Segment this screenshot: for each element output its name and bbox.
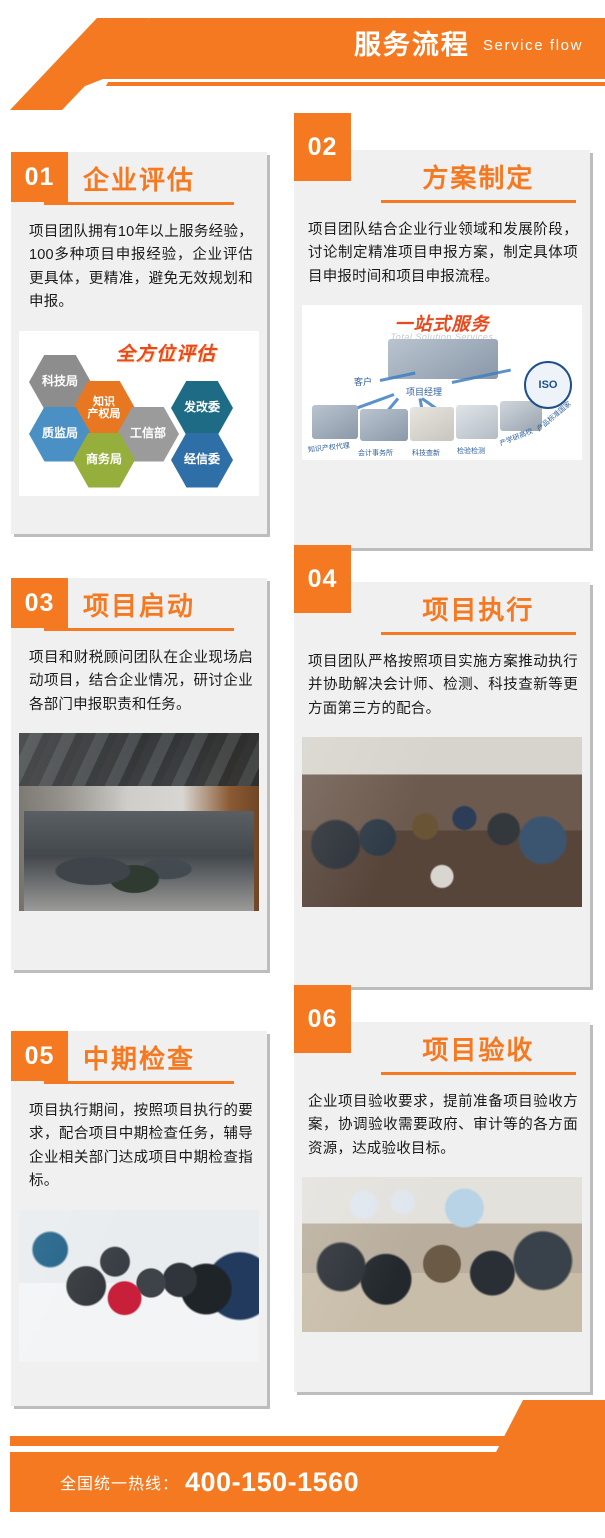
card-description: 企业项目验收要求，提前准备项目验收方案，协调验收需要政府、审计等的各方面资源，达…: [294, 1075, 590, 1177]
photo-gloss-overlay: [302, 1177, 582, 1332]
hex-node-fagai: 发改委: [171, 381, 233, 436]
step-number-badge: 05: [11, 1031, 68, 1081]
card-body: 06 项目验收 企业项目验收要求，提前准备项目验收方案，协调验收需要政府、审计等…: [294, 1022, 590, 1392]
card-description: 项目团队结合企业行业领域和发展阶段，讨论制定精准项目申报方案，制定具体项目申报时…: [294, 203, 590, 305]
photo-showroom-tour: [19, 1210, 259, 1362]
one-stop-photo-search: [410, 407, 454, 441]
hex-node-label: 工信部: [130, 427, 166, 440]
card-media-photo: [302, 737, 582, 907]
page-footer: 全国统一热线： 400-150-1560: [0, 1400, 605, 1538]
one-stop-node-customer: 客户: [354, 375, 372, 388]
step-number-badge: 02: [294, 113, 351, 181]
one-stop-photo-ip: [312, 405, 358, 439]
one-stop-label: 知识产权代理: [307, 441, 350, 455]
card-media-hex-infographic: 全方位评估 科技局 知识 产权局 质监局 工信部 商务局 发改委 经信委: [19, 331, 259, 496]
step-card-06[interactable]: 06 项目验收 企业项目验收要求，提前准备项目验收方案，协调验收需要政府、审计等…: [294, 985, 590, 1392]
footer-thin-rule: [10, 1436, 605, 1446]
header-title-group: 服务流程 Service flow: [0, 18, 605, 73]
one-stop-photo-testing: [456, 405, 498, 439]
card-title: 方案制定: [381, 150, 576, 203]
hex-node-jingxin: 经信委: [171, 433, 233, 488]
hex-node-label: 知识 产权局: [88, 396, 121, 421]
hotline-bar[interactable]: 全国统一热线： 400-150-1560: [10, 1452, 605, 1512]
card-title: 项目执行: [381, 582, 576, 635]
page-subtitle: Service flow: [483, 38, 583, 53]
hex-node-label: 发改委: [184, 401, 220, 414]
step-card-04[interactable]: 04 项目执行 项目团队严格按照项目实施方案推动执行并协助解决会计师、检测、科技…: [294, 545, 590, 987]
photo-gloss-overlay: [302, 737, 582, 907]
card-body: 05 中期检查 项目执行期间，按照项目执行的要求，配合项目中期检查任务，辅导企业…: [11, 1031, 267, 1406]
card-description: 项目团队严格按照项目实施方案推动执行并协助解决会计师、检测、科技查新等更方面第三…: [294, 635, 590, 737]
card-description: 项目团队拥有10年以上服务经验，100多种项目申报经验，企业评估更具体，更精准，…: [11, 205, 267, 331]
one-stop-infographic: 一站式服务 Total Solution Services 客户 项目经理: [302, 305, 582, 460]
hex-node-label: 科技局: [42, 375, 78, 388]
card-media-photo: [302, 1177, 582, 1332]
step-card-05[interactable]: 05 中期检查 项目执行期间，按照项目执行的要求，配合项目中期检查任务，辅导企业…: [11, 1031, 267, 1406]
one-stop-label: 会计事务所: [358, 448, 393, 458]
step-number-badge: 01: [11, 152, 68, 202]
one-stop-label: 检验检测: [457, 446, 485, 456]
card-body: 01 企业评估 项目团队拥有10年以上服务经验，100多种项目申报经验，企业评估…: [11, 152, 267, 534]
card-body: 02 方案制定 项目团队结合企业行业领域和发展阶段，讨论制定精准项目申报方案，制…: [294, 150, 590, 548]
step-number-badge: 06: [294, 985, 351, 1053]
card-media-photo: [19, 733, 259, 911]
step-card-02[interactable]: 02 方案制定 项目团队结合企业行业领域和发展阶段，讨论制定精准项目申报方案，制…: [294, 113, 590, 548]
page-title: 服务流程: [354, 32, 470, 59]
service-flow-infographic: 服务流程 Service flow 01 企业评估 项目团队拥有10年以上服务经…: [0, 0, 605, 1538]
card-body: 03 项目启动 项目和财税顾问团队在企业现场启动项目，结合企业情况，研讨企业各部…: [11, 578, 267, 970]
one-stop-label: 科技查新: [412, 448, 440, 458]
hex-node-label: 质监局: [42, 427, 78, 440]
photo-gloss-overlay: [19, 1210, 259, 1362]
one-stop-photo-accounting: [360, 409, 408, 441]
page-header: 服务流程 Service flow: [0, 0, 605, 105]
card-body: 04 项目执行 项目团队严格按照项目实施方案推动执行并协助解决会计师、检测、科技…: [294, 582, 590, 987]
step-card-01[interactable]: 01 企业评估 项目团队拥有10年以上服务经验，100多种项目申报经验，企业评估…: [11, 152, 267, 534]
photo-desk-work: [302, 737, 582, 907]
card-description: 项目和财税顾问团队在企业现场启动项目，结合企业情况，研讨企业各部门申报职责和任务…: [11, 631, 267, 733]
hotline-label: 全国统一热线：: [60, 1470, 179, 1494]
hex-node-label: 经信委: [184, 453, 220, 466]
photo-boardroom: [302, 1177, 582, 1332]
card-description: 项目执行期间，按照项目执行的要求，配合项目中期检查任务，辅导企业相关部门达成项目…: [11, 1084, 267, 1210]
card-title: 项目验收: [381, 1022, 576, 1075]
card-title: 企业评估: [44, 152, 233, 205]
step-number-badge: 03: [11, 578, 68, 628]
one-stop-node-manager: 项目经理: [406, 385, 442, 398]
hotline-phone-number[interactable]: 400-150-1560: [185, 1467, 359, 1498]
photo-meeting-room: [19, 733, 259, 911]
step-card-03[interactable]: 03 项目启动 项目和财税顾问团队在企业现场启动项目，结合企业情况，研讨企业各部…: [11, 578, 267, 970]
step-number-badge: 04: [294, 545, 351, 613]
card-media-one-stop-infographic: 一站式服务 Total Solution Services 客户 项目经理: [302, 305, 582, 460]
card-title: 中期检查: [44, 1031, 233, 1084]
photo-gloss-overlay: [19, 733, 259, 911]
card-media-photo: [19, 1210, 259, 1362]
card-title: 项目启动: [44, 578, 233, 631]
hex-infographic-title: 全方位评估: [116, 339, 216, 366]
hex-infographic: 全方位评估 科技局 知识 产权局 质监局 工信部 商务局 发改委 经信委: [19, 331, 259, 496]
hex-node-label: 商务局: [86, 453, 122, 466]
